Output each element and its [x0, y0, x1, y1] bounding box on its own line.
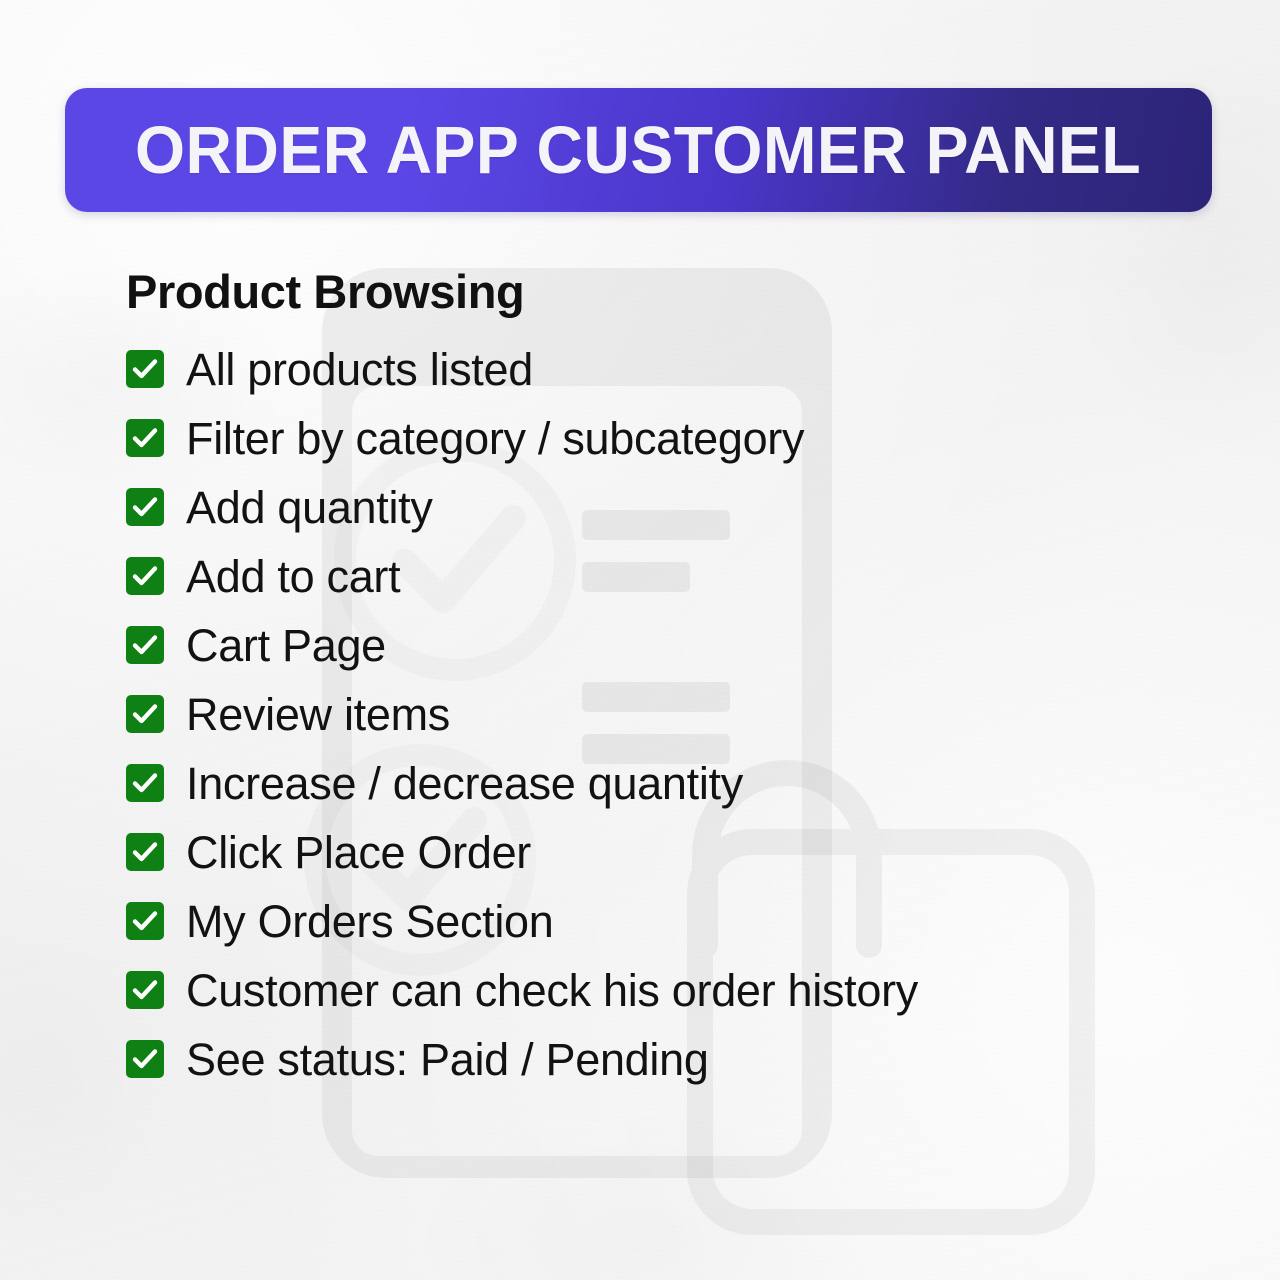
content-area: Product Browsing All products listed Fil…: [126, 266, 1216, 1094]
checked-checkbox-icon: [126, 557, 164, 595]
checked-checkbox-icon: [126, 488, 164, 526]
list-item-label: Cart Page: [186, 623, 386, 668]
checked-checkbox-icon: [126, 833, 164, 871]
checked-checkbox-icon: [126, 1040, 164, 1078]
list-item-label: Filter by category / subcategory: [186, 416, 804, 461]
list-item-label: All products listed: [186, 347, 533, 392]
banner-title: ORDER APP CUSTOMER PANEL: [135, 112, 1141, 189]
checked-checkbox-icon: [126, 350, 164, 388]
checked-checkbox-icon: [126, 626, 164, 664]
checked-checkbox-icon: [126, 764, 164, 802]
list-item: Review items: [126, 680, 1216, 749]
checked-checkbox-icon: [126, 902, 164, 940]
list-item-label: Click Place Order: [186, 830, 531, 875]
list-item-label: Add quantity: [186, 485, 433, 530]
list-item: Increase / decrease quantity: [126, 749, 1216, 818]
list-item: Filter by category / subcategory: [126, 404, 1216, 473]
list-item: Customer can check his order history: [126, 956, 1216, 1025]
list-item: All products listed: [126, 335, 1216, 404]
list-item: See status: Paid / Pending: [126, 1025, 1216, 1094]
list-item: My Orders Section: [126, 887, 1216, 956]
list-item: Add to cart: [126, 542, 1216, 611]
list-item-label: Customer can check his order history: [186, 968, 918, 1013]
list-item: Add quantity: [126, 473, 1216, 542]
list-item-label: Review items: [186, 692, 450, 737]
list-item-label: Add to cart: [186, 554, 400, 599]
checked-checkbox-icon: [126, 695, 164, 733]
checked-checkbox-icon: [126, 419, 164, 457]
feature-checklist: All products listed Filter by category /…: [126, 335, 1216, 1094]
poster-canvas: ORDER APP CUSTOMER PANEL Product Browsin…: [0, 0, 1280, 1280]
checked-checkbox-icon: [126, 971, 164, 1009]
section-title: Product Browsing: [126, 266, 1216, 318]
list-item: Cart Page: [126, 611, 1216, 680]
list-item-label: Increase / decrease quantity: [186, 761, 743, 806]
list-item-label: See status: Paid / Pending: [186, 1037, 709, 1082]
header-banner: ORDER APP CUSTOMER PANEL: [65, 88, 1212, 212]
list-item-label: My Orders Section: [186, 899, 554, 944]
list-item: Click Place Order: [126, 818, 1216, 887]
